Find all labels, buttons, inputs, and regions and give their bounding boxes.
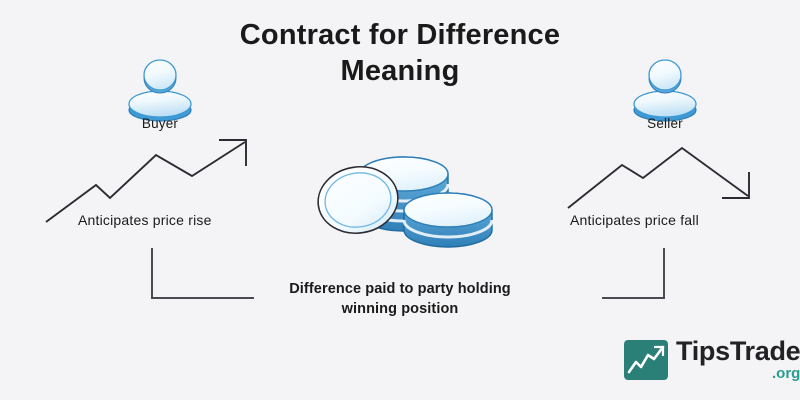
logo-tld: .org (676, 366, 800, 381)
coins-stack-icon (300, 138, 520, 263)
seller-caption: Anticipates price fall (570, 212, 699, 228)
right-connector-bracket (600, 246, 670, 311)
buyer-caption: Anticipates price rise (78, 212, 212, 228)
tipstrade-logo[interactable]: TipsTrade .org (624, 338, 800, 381)
seller-label: Seller (595, 116, 735, 131)
seller-person-icon (625, 58, 705, 124)
chart-line-logo-icon (624, 340, 668, 380)
logo-wordmark: TipsTrade .org (676, 338, 800, 381)
center-caption: Difference paid to party holding winning… (230, 280, 570, 319)
buyer-person-icon (120, 58, 200, 124)
infographic-canvas: Contract for Difference Meaning Bu (0, 0, 800, 400)
logo-word: TipsTrade (676, 338, 800, 365)
